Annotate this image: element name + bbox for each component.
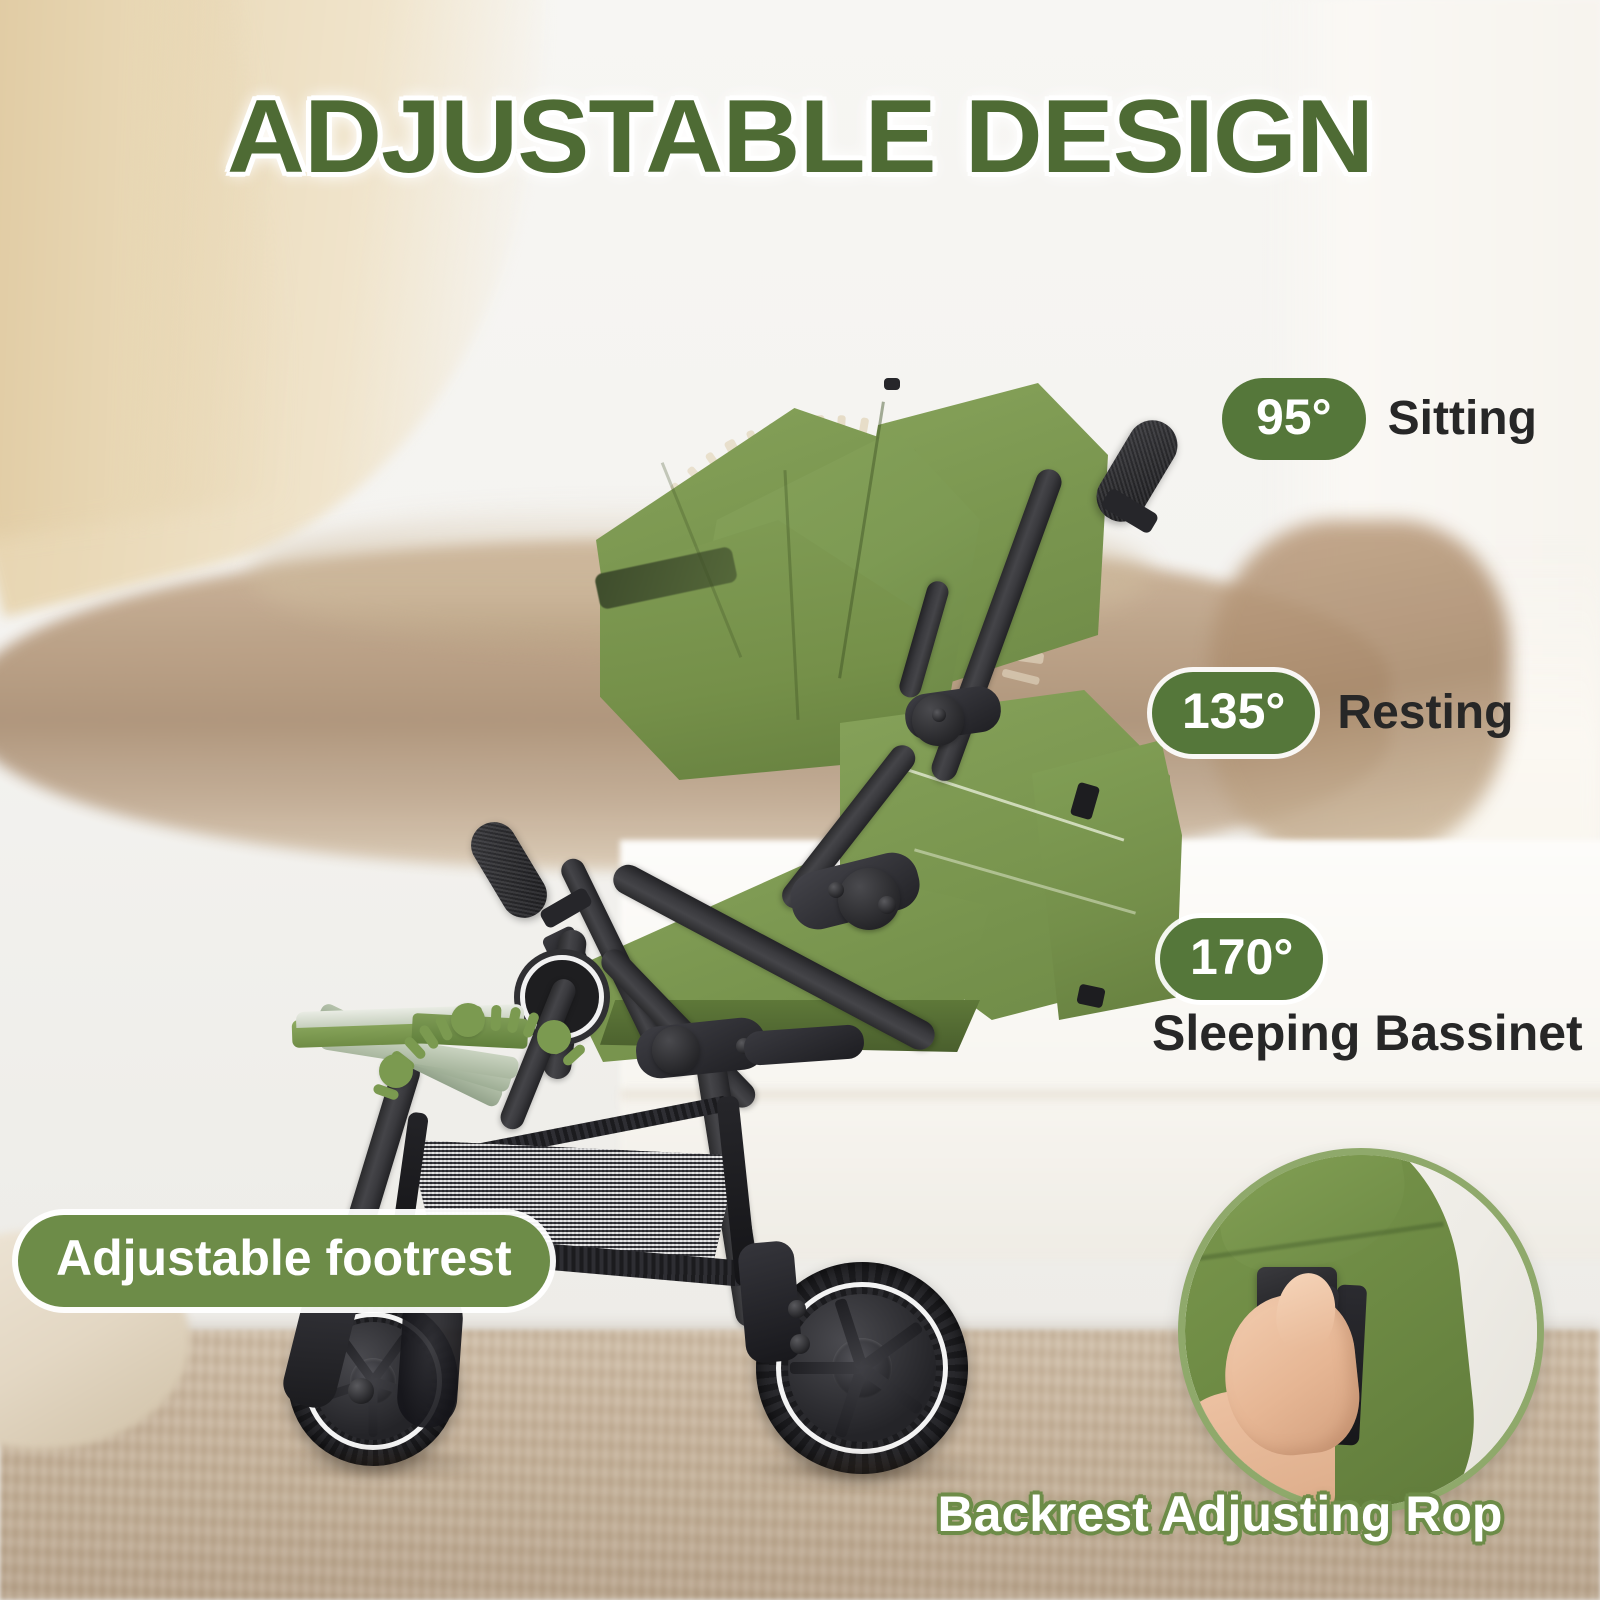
hinge-rivet-a xyxy=(828,882,844,898)
angle-pill-170: 170° xyxy=(1160,918,1323,1000)
product-feature-image: ADJUSTABLE DESIGN 95° Sitting 135° Resti… xyxy=(0,0,1600,1600)
angle-pill-95: 95° xyxy=(1222,378,1366,460)
lower-pivot xyxy=(652,1026,700,1074)
rear-axle-bolt xyxy=(790,1334,810,1354)
hinge-rivet-b xyxy=(878,896,896,914)
angle-label-sitting: Sitting xyxy=(1388,395,1537,443)
footrest-callout: Adjustable footrest xyxy=(18,1215,550,1307)
angle-label-sleeping: Sleeping Bassinet xyxy=(1152,1004,1583,1062)
canopy-rivet xyxy=(932,708,946,722)
footrest-arc-dash xyxy=(491,1005,502,1031)
front-axle-bolt xyxy=(348,1378,374,1404)
angle-callout-sleeping: 170° xyxy=(1160,918,1323,1000)
front-wheel-twin xyxy=(395,1286,465,1430)
front-wheel-shadow xyxy=(280,1448,490,1478)
angle-label-resting: Resting xyxy=(1337,689,1513,737)
page-title: ADJUSTABLE DESIGN xyxy=(0,78,1600,197)
angle-callout-sitting: 95° Sitting xyxy=(1222,378,1537,460)
angle-pill-135: 135° xyxy=(1152,672,1315,754)
backrest-closeup-inset xyxy=(1178,1148,1544,1514)
rear-wheel-shadow xyxy=(740,1452,990,1486)
footrest-position-dot xyxy=(379,1054,413,1088)
angle-callout-resting: 135° Resting xyxy=(1152,672,1513,754)
footrest-position-dot xyxy=(537,1020,571,1054)
footrest-position-dot xyxy=(451,1003,485,1037)
seat-rail xyxy=(743,1024,865,1066)
backrest-callout: Backrest Adjusting Rop xyxy=(840,1485,1600,1543)
rear-mount-bolt xyxy=(788,1300,806,1318)
